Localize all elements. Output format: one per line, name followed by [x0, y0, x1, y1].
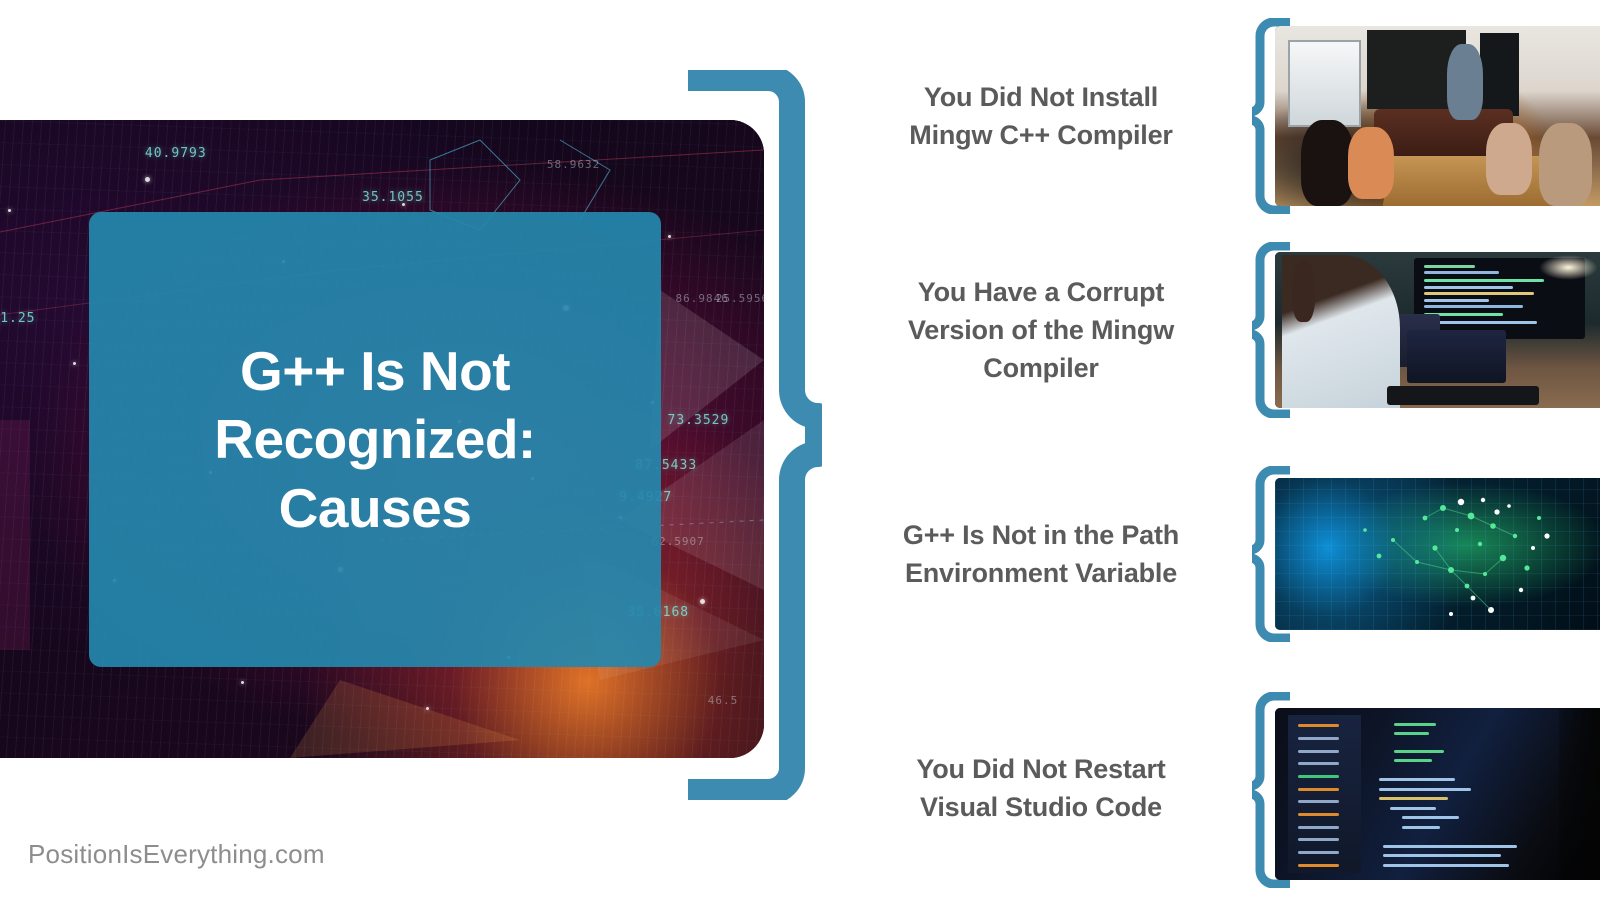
list-item-thumbnail — [1275, 252, 1600, 408]
cause-list: You Did Not Install Mingw C++ Compiler Y… — [860, 0, 1600, 900]
list-item-thumbnail — [1275, 26, 1600, 206]
list-item[interactable]: You Did Not Install Mingw C++ Compiler — [860, 18, 1600, 214]
page-title: G++ Is Not Recognized: Causes — [214, 337, 535, 542]
list-item-label: You Did Not Restart Visual Studio Code — [860, 750, 1230, 827]
hero-number: 35.1055 — [362, 190, 424, 205]
hero-number: 1.25 — [0, 311, 35, 326]
list-item-thumbnail — [1275, 478, 1600, 630]
hero-number: 40.9793 — [145, 146, 207, 161]
list-item[interactable]: You Have a Corrupt Version of the Mingw … — [860, 242, 1600, 418]
infographic-canvas: 40.9793 35.1055 284 1.25 58.9632 86.9846… — [0, 0, 1600, 900]
hero-number: 58.9632 — [547, 158, 600, 171]
list-item-thumbnail — [1275, 708, 1600, 880]
site-watermark: PositionIsEverything.com — [28, 839, 325, 870]
list-item-label: G++ Is Not in the Path Environment Varia… — [860, 516, 1230, 593]
list-item[interactable]: G++ Is Not in the Path Environment Varia… — [860, 466, 1600, 642]
list-item-label: You Did Not Install Mingw C++ Compiler — [860, 78, 1230, 155]
list-item-label: You Have a Corrupt Version of the Mingw … — [860, 273, 1230, 388]
curly-brace-large-icon — [676, 70, 822, 800]
list-item[interactable]: You Did Not Restart Visual Studio Code — [860, 680, 1600, 896]
title-card: G++ Is Not Recognized: Causes — [89, 212, 661, 667]
